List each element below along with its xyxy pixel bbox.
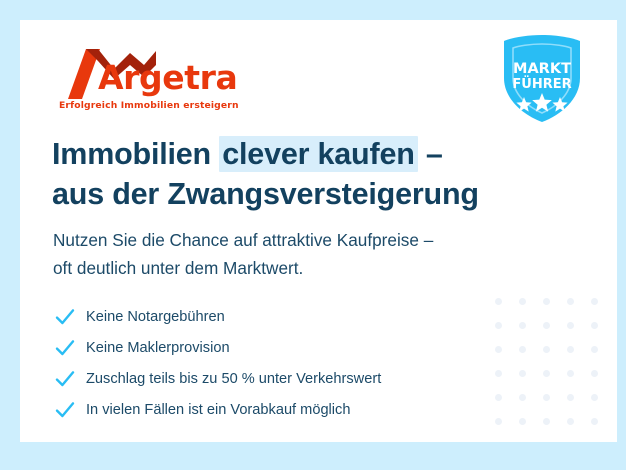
list-item-label: In vielen Fällen ist ein Vorabkauf mögli… — [86, 400, 350, 420]
list-item-label: Keine Maklerprovision — [86, 338, 230, 358]
decorative-dot — [591, 370, 598, 377]
list-item: Keine Notargebühren — [53, 301, 553, 332]
check-icon — [53, 336, 77, 360]
argetra-tagline: Erfolgreich Immobilien ersteigern — [59, 100, 239, 111]
decorative-dot — [591, 322, 598, 329]
headline-part2: – — [418, 137, 443, 171]
argetra-wordmark: Argetra — [98, 56, 237, 100]
subtitle-line1: Nutzen Sie die Chance auf attraktive Kau… — [53, 226, 573, 254]
list-item: Keine Maklerprovision — [53, 332, 553, 363]
check-icon — [53, 305, 77, 329]
check-icon — [53, 398, 77, 422]
benefits-list: Keine Notargebühren Keine Maklerprovisio… — [53, 301, 553, 425]
check-icon — [53, 367, 77, 391]
headline-part1: Immobilien — [52, 137, 219, 171]
decorative-dot — [567, 370, 574, 377]
markt-fuehrer-badge: MARKT FÜHRER — [499, 33, 585, 125]
subtitle-line2: oft deutlich unter dem Marktwert. — [53, 254, 573, 282]
page-subtitle: Nutzen Sie die Chance auf attraktive Kau… — [53, 226, 573, 282]
decorative-dot — [591, 418, 598, 425]
promo-banner: Argetra Erfolgreich Immobilien ersteiger… — [0, 0, 626, 470]
promo-card: Argetra Erfolgreich Immobilien ersteiger… — [20, 20, 617, 442]
decorative-dot — [591, 346, 598, 353]
argetra-logo[interactable]: Argetra Erfolgreich Immobilien ersteiger… — [58, 47, 218, 122]
list-item: Zuschlag teils bis zu 50 % unter Verkehr… — [53, 363, 553, 394]
headline-line2: aus der Zwangsversteigerung — [52, 175, 582, 213]
list-item: In vielen Fällen ist ein Vorabkauf mögli… — [53, 394, 553, 425]
page-title: Immobilien clever kaufen – aus der Zwang… — [52, 135, 582, 213]
decorative-dot — [567, 394, 574, 401]
headline-highlight: clever kaufen — [219, 136, 417, 172]
decorative-dot — [567, 322, 574, 329]
badge-line2-text: FÜHRER — [512, 76, 571, 92]
badge-line1-text: MARKT — [513, 61, 571, 77]
decorative-dot — [591, 298, 598, 305]
decorative-dot — [567, 298, 574, 305]
decorative-dot — [567, 346, 574, 353]
list-item-label: Zuschlag teils bis zu 50 % unter Verkehr… — [86, 369, 381, 389]
decorative-dot — [567, 418, 574, 425]
list-item-label: Keine Notargebühren — [86, 307, 225, 327]
decorative-dot — [591, 394, 598, 401]
